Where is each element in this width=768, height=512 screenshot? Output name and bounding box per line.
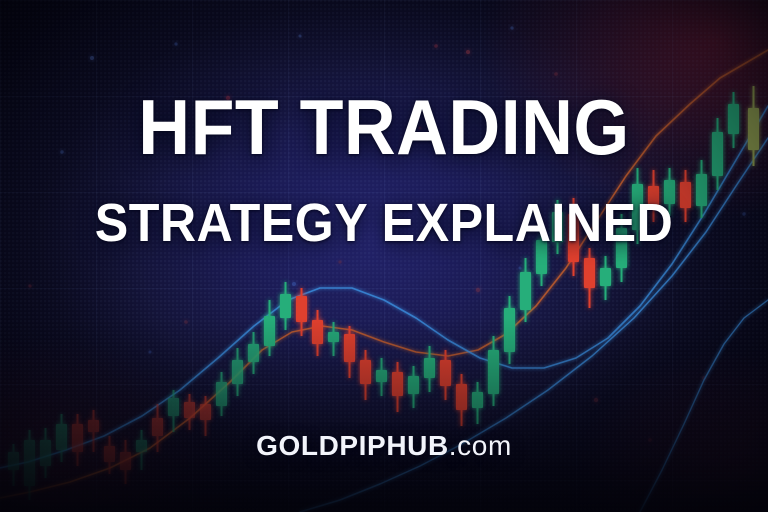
page-title: HFT TRADING	[31, 88, 738, 166]
thumbnail-canvas: HFT TRADING STRATEGY EXPLAINED GOLDPIPHU…	[0, 0, 768, 512]
page-subtitle: STRATEGY EXPLAINED	[27, 196, 741, 250]
brand-name: GOLDPIPHUB	[256, 430, 449, 461]
brand-tld: .com	[449, 430, 512, 461]
brand-watermark: GOLDPIPHUB.com	[0, 432, 768, 460]
